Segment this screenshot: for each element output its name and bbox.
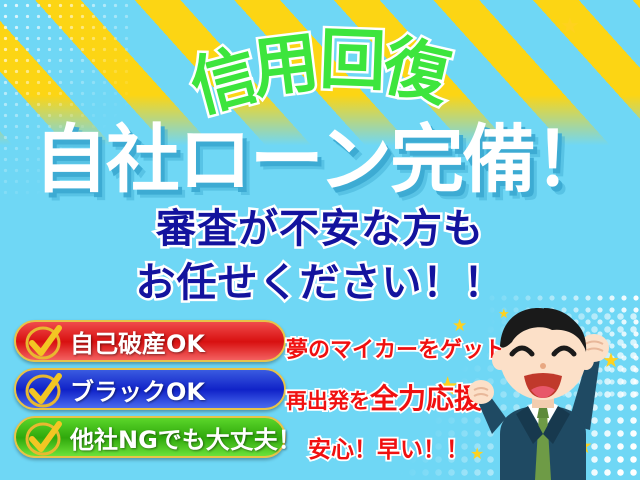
badge-label: ブラックOK [70,372,205,407]
check-circle-icon [24,420,64,458]
badge-label: 自己破産OK [70,324,205,359]
advertisement-banner: ★★★★★★★ 信 用 回 復 自社ローン完備！ 審査が不安な方も お任せくださ… [0,0,640,480]
headline-arch: 信 用 回 復 [0,6,640,102]
benefit-badge-list: 自己破産OK ブラックOK 他社NGでも大丈夫！ [14,320,286,464]
badge-black-list-ok[interactable]: ブラックOK [14,368,286,410]
main-title: 自社ローン完備！ [0,100,640,207]
catch-copy-line-3: 安心！早い！！ [308,430,469,464]
badge-other-company-ng-ok[interactable]: 他社NGでも大丈夫！ [14,416,286,458]
cheering-businessman-illustration [448,284,634,480]
headline-char-1: 用 [246,8,323,111]
badge-self-bankruptcy[interactable]: 自己破産OK [14,320,286,362]
check-circle-icon [24,324,64,362]
headline-char-2: 回 [318,6,387,104]
subtitle-line-1: 審査が不安な方も [0,196,640,254]
check-circle-icon [24,372,64,410]
catch-copy-line-2-small: 再出発を [286,389,370,413]
badge-label: 他社NGでも大丈夫！ [70,420,302,455]
